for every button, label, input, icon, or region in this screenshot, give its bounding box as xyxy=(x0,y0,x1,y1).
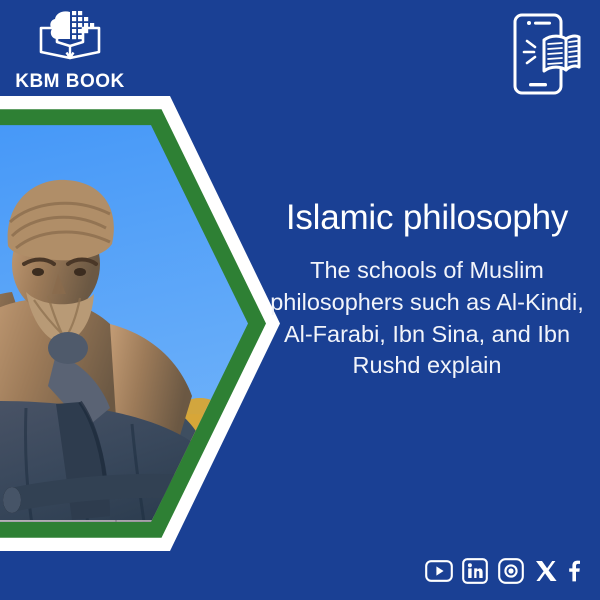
page-body-text: The schools of Muslim philosophers such … xyxy=(262,255,592,382)
text-block: Islamic philosophy The schools of Muslim… xyxy=(262,198,592,382)
facebook-icon[interactable] xyxy=(566,556,584,586)
page-title: Islamic philosophy xyxy=(262,198,592,237)
linkedin-icon[interactable] xyxy=(460,556,490,586)
youtube-icon[interactable] xyxy=(424,556,454,586)
x-twitter-icon[interactable] xyxy=(532,556,560,586)
social-links[interactable] xyxy=(424,556,584,586)
instagram-icon[interactable] xyxy=(496,556,526,586)
brain-book-logo-icon xyxy=(14,8,126,69)
hexagon-photo-frame xyxy=(0,96,280,551)
smartphone-open-book-icon xyxy=(506,12,582,101)
poster-canvas: KBM BOOK xyxy=(0,0,600,600)
brand-logo[interactable]: KBM BOOK xyxy=(14,8,126,93)
statue-photo xyxy=(0,96,280,551)
statue-scene xyxy=(0,96,280,551)
brand-name: KBM BOOK xyxy=(14,71,126,93)
